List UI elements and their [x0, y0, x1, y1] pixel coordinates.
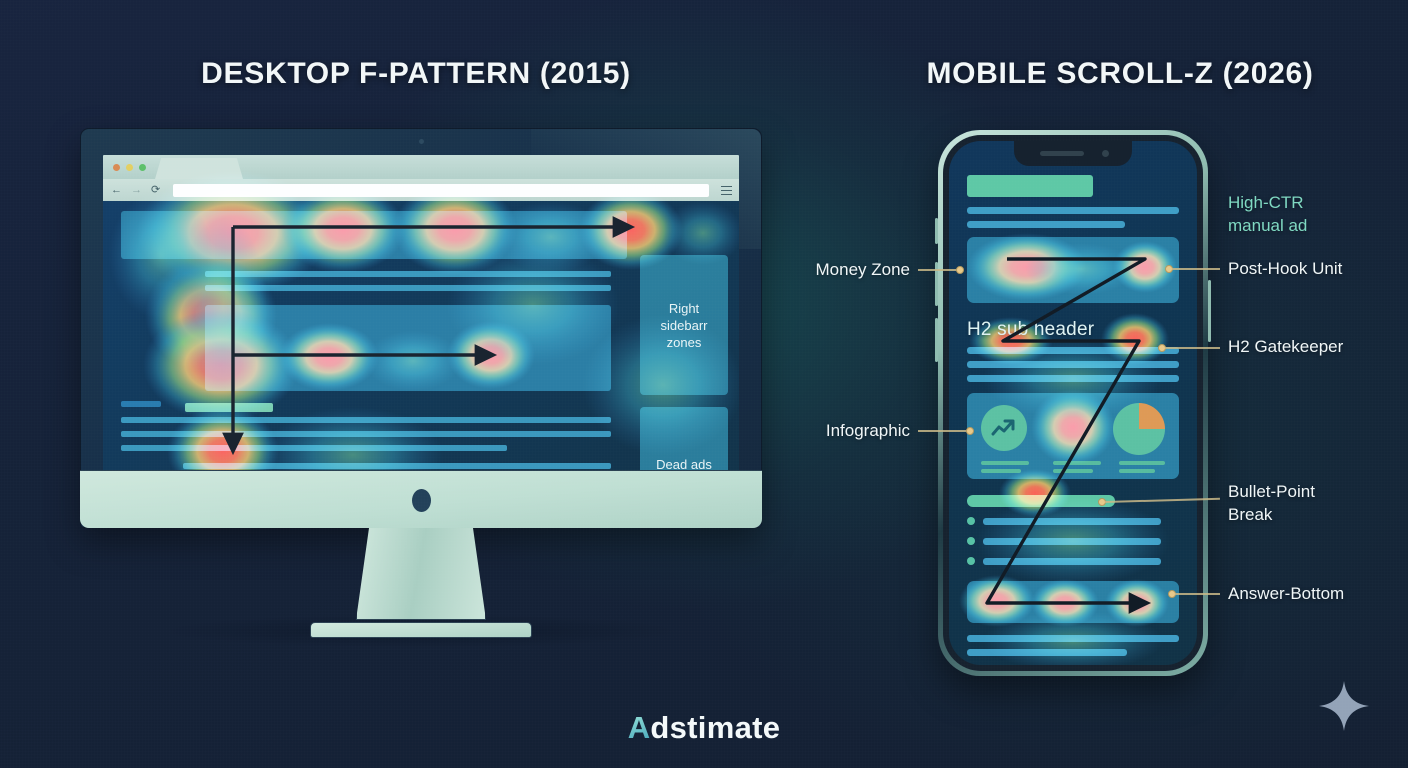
trend-up-icon	[981, 405, 1027, 451]
article-title-bar	[967, 175, 1093, 197]
label-high-ctr-manual-ad: High-CTR manual ad	[1228, 191, 1398, 237]
highlight-line	[185, 403, 273, 412]
caption-line	[981, 469, 1021, 473]
window-close-icon[interactable]	[113, 164, 120, 171]
phone-screen: H2 sub header	[949, 141, 1197, 665]
trend-up-glyph	[991, 418, 1017, 438]
text-line	[967, 347, 1179, 354]
label-h2-gatekeeper: H2 Gatekeeper	[1228, 335, 1403, 358]
leader-post-hook	[1172, 268, 1220, 270]
monitor-screen: ← → ⟳ Right sideba	[103, 155, 739, 501]
caption-line	[1119, 469, 1155, 473]
content-block	[205, 305, 611, 391]
leader-h2-gatekeeper	[1165, 347, 1220, 349]
text-line	[967, 649, 1127, 656]
label-infographic: Infographic	[760, 419, 910, 442]
brand-logo: Adstimate	[0, 710, 1408, 746]
window-minimize-icon[interactable]	[126, 164, 133, 171]
text-line	[121, 445, 507, 451]
text-line	[967, 375, 1179, 382]
text-line	[967, 361, 1179, 368]
monitor-camera-icon	[419, 139, 424, 144]
infographic-canvas: DESKTOP F-PATTERN (2015) MOBILE SCROLL-Z…	[0, 0, 1408, 768]
leader-answer-bottom	[1175, 593, 1220, 595]
mobile-panel-title: MOBILE SCROLL-Z (2026)	[832, 57, 1408, 91]
front-camera-icon	[1102, 150, 1109, 157]
brand-logo-text: dstimate	[650, 710, 780, 745]
monitor-stand-neck	[356, 528, 486, 620]
monitor-stand-foot	[310, 622, 532, 638]
text-line	[967, 635, 1179, 642]
phone-power-button[interactable]	[1208, 280, 1211, 342]
label-bullet-point-break: Bullet-Point Break	[1228, 480, 1403, 526]
infographic-card	[967, 393, 1179, 479]
bullet-dot	[967, 557, 975, 565]
leader-money-zone	[918, 269, 960, 271]
text-line	[967, 221, 1125, 228]
text-line	[121, 417, 611, 423]
label-answer-bottom: Answer-Bottom	[1228, 582, 1403, 605]
caption-line	[981, 461, 1029, 465]
browser-titlebar	[103, 155, 739, 179]
phone-mute-switch[interactable]	[935, 218, 938, 244]
leader-dot	[956, 266, 964, 274]
answer-bottom-card	[967, 581, 1179, 623]
forward-icon[interactable]: →	[131, 185, 142, 196]
monitor-chin	[80, 470, 762, 528]
bullet-break-bar	[967, 495, 1115, 507]
h2-subheader-text: H2 sub header	[967, 319, 1094, 341]
sparkle-icon	[1316, 678, 1372, 734]
reload-icon[interactable]: ⟳	[151, 185, 160, 196]
monitor-logo-icon	[412, 489, 431, 512]
desktop-monitor: ← → ⟳ Right sideba	[80, 128, 762, 528]
bullet-dot	[967, 517, 975, 525]
address-bar-input[interactable]	[173, 184, 709, 197]
text-line	[183, 463, 611, 469]
speaker-icon	[1040, 151, 1084, 156]
text-line	[967, 207, 1179, 214]
phone-volume-down-button[interactable]	[935, 318, 938, 362]
hero-block	[121, 211, 627, 259]
pie-chart-icon	[1113, 403, 1165, 455]
window-maximize-icon[interactable]	[139, 164, 146, 171]
label-post-hook-unit: Post-Hook Unit	[1228, 257, 1403, 280]
phone-notch	[1014, 141, 1132, 166]
back-icon[interactable]: ←	[111, 185, 122, 196]
leader-dot	[966, 427, 974, 435]
post-hook-ad-card	[967, 237, 1179, 303]
text-line	[205, 271, 611, 277]
monitor-stand	[80, 528, 762, 644]
text-line	[205, 285, 611, 291]
text-line	[121, 431, 611, 437]
desktop-panel-title: DESKTOP F-PATTERN (2015)	[0, 57, 832, 91]
hamburger-menu-icon[interactable]	[721, 186, 732, 198]
caption-line	[1119, 461, 1165, 465]
text-line	[121, 401, 161, 407]
bullet-line	[983, 518, 1161, 525]
browser-tab[interactable]	[155, 158, 243, 179]
bullet-dot	[967, 537, 975, 545]
webpage-wireframe: Right sidebarr zones Dead ads sidebarr z…	[113, 205, 731, 493]
brand-logo-mark: A	[628, 710, 651, 745]
label-money-zone: Money Zone	[760, 258, 910, 281]
leader-infographic	[918, 430, 970, 432]
caption-line	[1053, 461, 1101, 465]
caption-line	[1053, 469, 1093, 473]
sidebar-box-right-zones: Right sidebarr zones	[640, 255, 728, 395]
bullet-line	[983, 538, 1161, 545]
bullet-line	[983, 558, 1161, 565]
browser-toolbar: ← → ⟳	[103, 179, 739, 201]
